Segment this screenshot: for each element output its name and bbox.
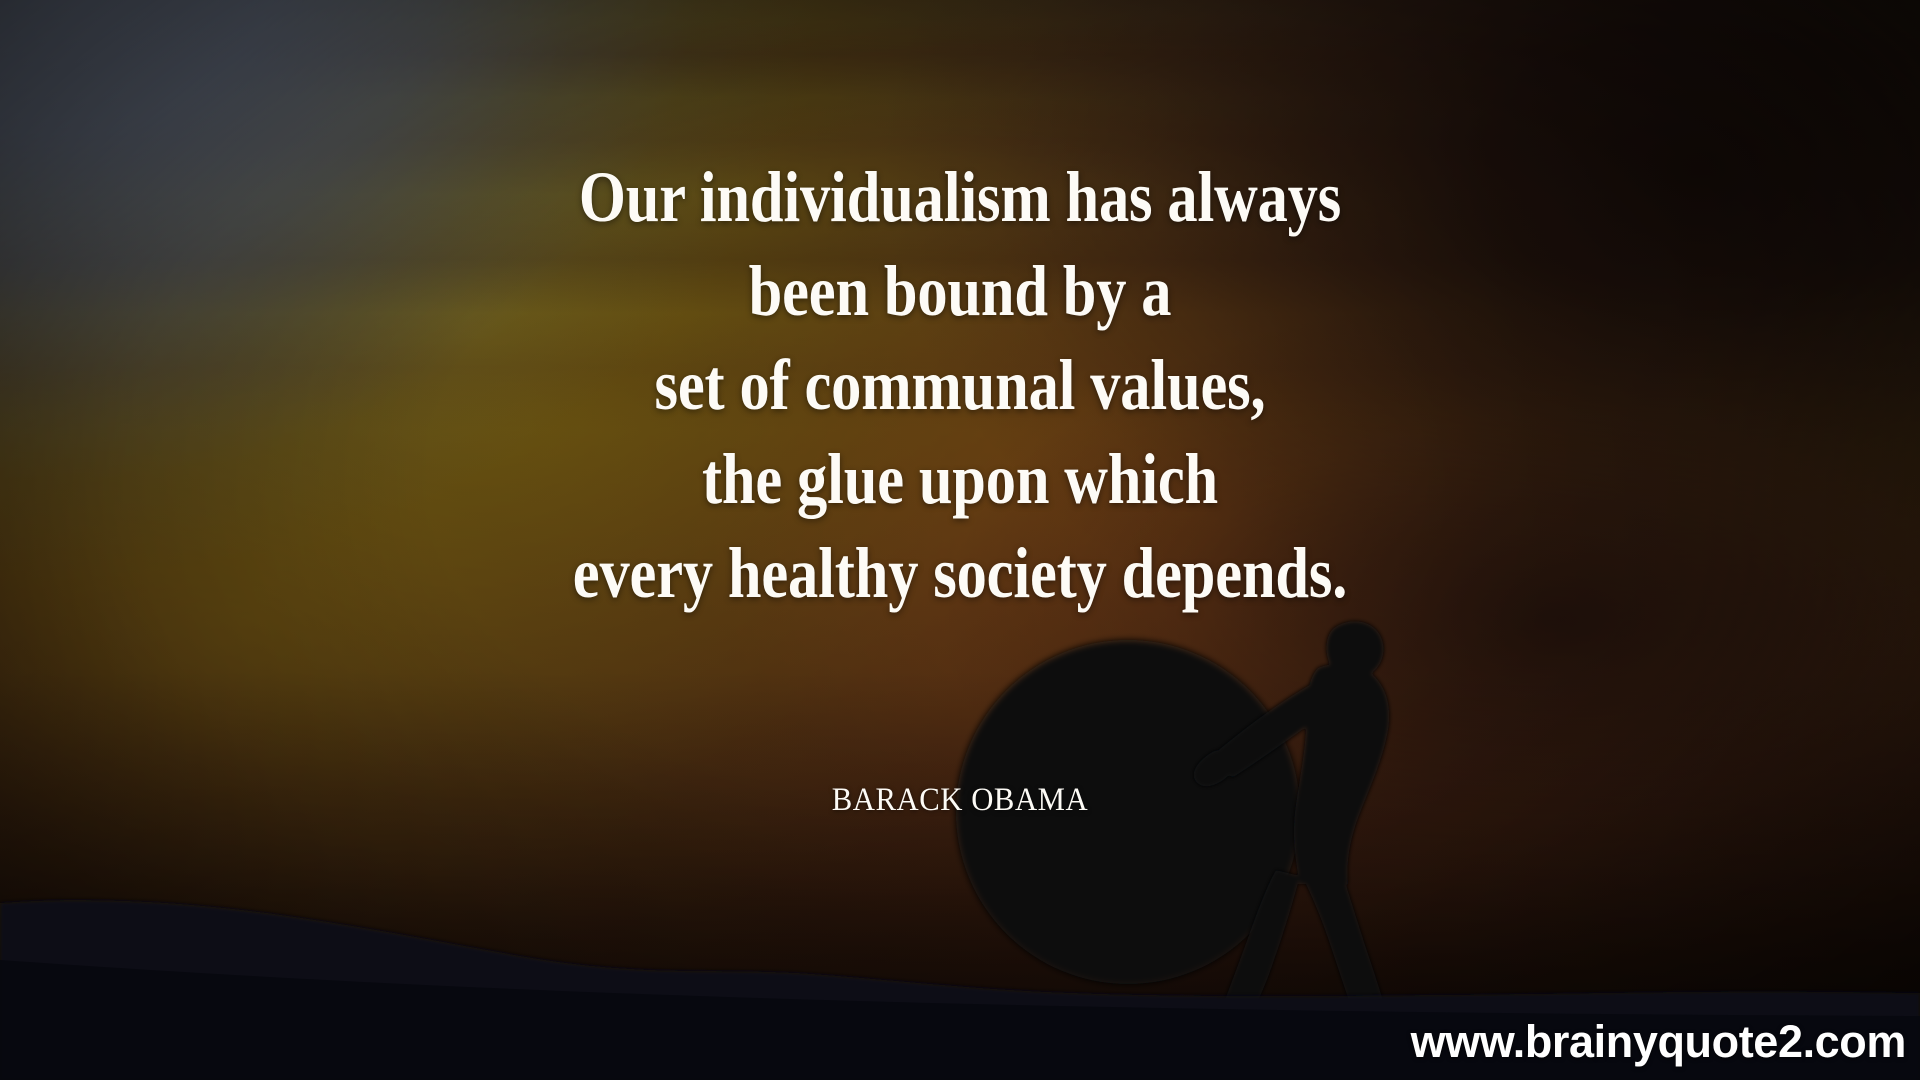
quote-line-4: the glue upon which (154, 432, 1767, 526)
quote-attribution: BARACK OBAMA (67, 782, 1853, 819)
quote-line-2: been bound by a (154, 244, 1767, 338)
quote-line-1: Our individualism has always (154, 150, 1767, 244)
quote-text-block: Our individualism has always been bound … (0, 150, 1920, 620)
quote-line-3: set of communal values, (154, 338, 1767, 432)
site-watermark-url: www.brainyquote2.com (1411, 1016, 1906, 1068)
quote-image-canvas: Our individualism has always been bound … (0, 0, 1920, 1080)
quote-line-5: every healthy society depends. (154, 526, 1767, 620)
